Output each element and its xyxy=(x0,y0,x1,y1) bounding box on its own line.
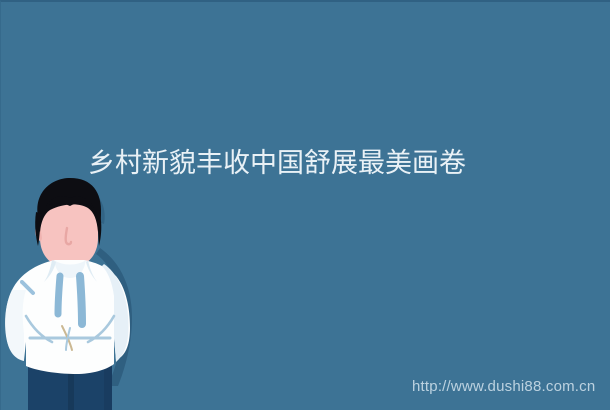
watermark-url: http://www.dushi88.com.cn xyxy=(412,378,595,396)
figure-hoodie xyxy=(5,260,130,374)
promo-banner: 乡村新貌丰收中国舒展最美画卷 http://www.dushi88.com.cn xyxy=(0,0,610,410)
headline-text: 乡村新貌丰收中国舒展最美画卷 xyxy=(88,148,558,178)
illustration-young-man-hoodie xyxy=(0,176,150,410)
